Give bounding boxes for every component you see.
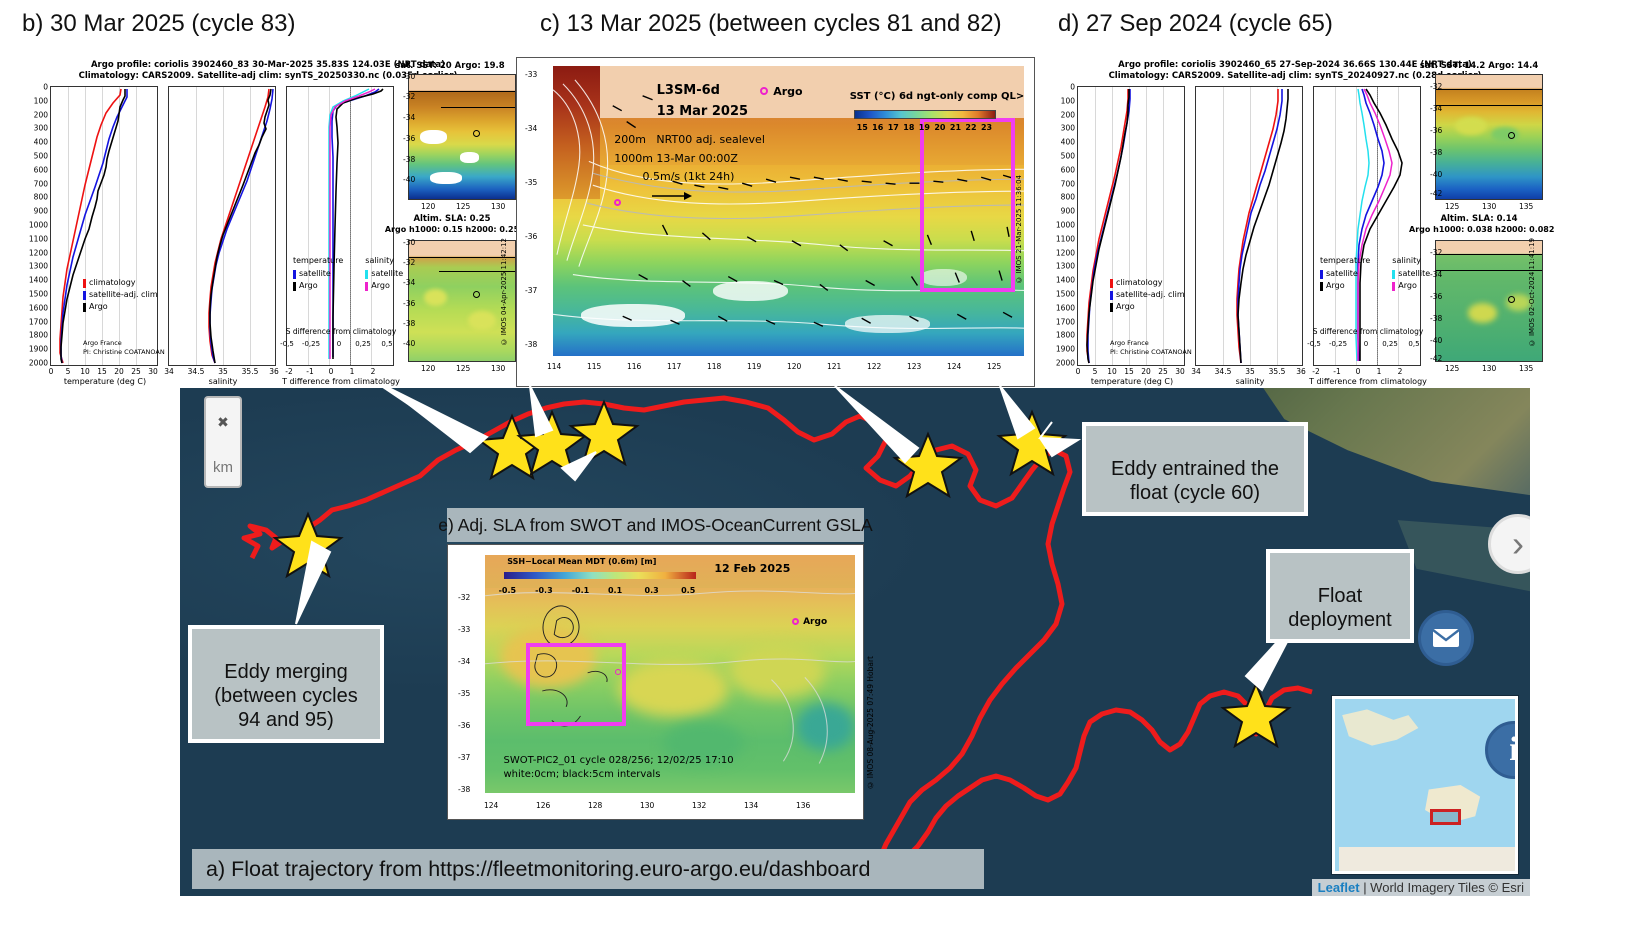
- panel-e-footer-line1: SWOT-PIC2_01 cycle 028/256; 12/02/25 17:…: [504, 755, 734, 766]
- scale-arrow-icon: [652, 191, 692, 201]
- panel-e-imos-credit: © IMOS 08-Aug-2025 07:49 Hobart: [866, 656, 875, 790]
- credit-line2: PI: Christine COATANOAN: [1110, 348, 1192, 357]
- star-marker: [275, 514, 341, 576]
- legend-temp-satellite: satellite: [1326, 268, 1358, 280]
- annotation-eddy-entrained: Eddy entrained the float (cycle 60): [1082, 422, 1308, 516]
- panel-c-note-line3: 0.5m/s (1kt 24h): [642, 170, 734, 183]
- legend-temp-satellite: satellite: [299, 268, 331, 280]
- panel-b-tdiff-title: T difference from climatology: [277, 377, 405, 386]
- series-satellite-adj: [1238, 89, 1282, 363]
- panel-c-figure: L3SM-6d 13 Mar 2025 Argo SST (°C) 6d ngt…: [516, 57, 1035, 387]
- legend-sal-satellite: satellite: [1398, 268, 1430, 280]
- close-icon[interactable]: ✖: [217, 414, 229, 431]
- panel-b-legend-profiles: climatology satellite-adj. clim Argo: [83, 277, 158, 313]
- panel-c-sst-colorbar: [854, 110, 995, 119]
- panel-d-legend-diff: temperature satellite Argo salinity sate…: [1320, 255, 1430, 292]
- legend-sal-argo: Argo: [1398, 280, 1417, 292]
- map-scale-label: km: [213, 459, 233, 476]
- legend-climatology: climatology: [1116, 277, 1163, 289]
- panel-c-product-label: L3SM-6d: [657, 83, 720, 98]
- argo-position-marker: [615, 669, 621, 675]
- panel-d-temp-axis-title: temperature (deg C): [1070, 377, 1194, 386]
- panel-d-sla-title2: Argo h1000: 0.038 h2000: 0.082: [1409, 225, 1549, 234]
- panel-b-temperature-profile: 0 100200 300400 500600 700800 9001000 11…: [50, 86, 158, 366]
- legend-satellite-adj: satellite-adj. clim: [1116, 289, 1185, 301]
- series-argo: [210, 89, 271, 363]
- panel-e-inset: e) Adj. SLA from SWOT and IMOS-OceanCurr…: [447, 508, 864, 820]
- panel-b-credit: Argo France PI: Christine COATANOAN: [83, 339, 165, 357]
- panel-d-sst-title: sat. SST: 14.2 Argo: 14.4: [1417, 61, 1541, 71]
- panel-b-sla-title2: Argo h1000: 0.15 h2000: 0.25: [384, 225, 520, 234]
- panel-a-caption: a) Float trajectory from https://fleetmo…: [192, 849, 984, 889]
- legend-temp-header: temperature: [1320, 255, 1370, 267]
- panel-b-legend-diff: temperature satellite Argo salinity sate…: [293, 255, 403, 292]
- annotation-text: Float deployment: [1288, 585, 1391, 631]
- panel-b-temp-axis-title: temperature (deg C): [43, 377, 167, 386]
- panel-b-salinity-profile: 3434.5 3535.5 36 salinity: [168, 86, 276, 366]
- star-marker: [999, 412, 1065, 474]
- star-marker: [1223, 684, 1289, 746]
- star-marker: [895, 434, 961, 496]
- legend-sal-satellite: satellite: [371, 268, 403, 280]
- series-temp-satellite: [1358, 89, 1384, 361]
- legend-sal-header: salinity: [365, 255, 394, 267]
- panel-e-sla-map: SSH−Local Mean MDT (0.6m) [m] -0.5-0.3 -…: [485, 555, 855, 793]
- series-satellite-adj: [210, 89, 273, 363]
- annotation-text: Eddy entrained the float (cycle 60): [1111, 458, 1279, 504]
- panel-c-sst-legend-title: SST (°C) 6d ngt-only comp QL>=3: [850, 91, 1024, 102]
- credit-line1: Argo France: [83, 339, 165, 348]
- argo-marker-icon: [792, 618, 799, 625]
- legend-argo: Argo: [1116, 301, 1135, 313]
- panel-c-argo-legend: Argo: [773, 85, 802, 98]
- map-attribution: Leaflet | World Imagery Tiles © Esri: [1312, 879, 1530, 896]
- panel-c-sst-map: L3SM-6d 13 Mar 2025 Argo SST (°C) 6d ngt…: [553, 66, 1024, 356]
- panel-c-note-line2: 1000m 13-Mar 00:00Z: [614, 152, 738, 165]
- panel-d-temperature-profile: 0 100200 300400 500600 700800 9001000 11…: [1077, 86, 1185, 366]
- series-climatology: [209, 89, 269, 363]
- credit-line2: PI: Christine COATANOAN: [83, 348, 165, 357]
- legend-argo: Argo: [89, 301, 108, 313]
- panel-d-tdiff-title: T difference from climatology: [1304, 377, 1432, 386]
- map-scale-control[interactable]: ✖ km: [204, 396, 242, 488]
- attribution-text: | World Imagery Tiles © Esri: [1363, 880, 1524, 895]
- argo-position-marker: [473, 291, 480, 298]
- panel-b-figure: Argo profile: coriolis 3902460_83 30-Mar…: [18, 56, 518, 388]
- panel-e-colorbar-title: SSH−Local Mean MDT (0.6m) [m]: [507, 557, 656, 566]
- panel-b-imos-credit: © IMOS 04-Apr-2025 11:42:12: [500, 238, 508, 345]
- panel-b-sst-map: [408, 74, 516, 200]
- annotation-eddy-merging: Eddy merging (between cycles 94 and 95): [188, 625, 384, 743]
- panel-c-date-label: 13 Mar 2025: [657, 104, 748, 119]
- series-argo: [61, 89, 125, 363]
- legend-temp-argo: Argo: [299, 280, 318, 292]
- series-argo: [1087, 89, 1129, 363]
- panel-b-title: b) 30 Mar 2025 (cycle 83): [22, 10, 295, 38]
- panel-d-credit: Argo France PI: Christine COATANOAN: [1110, 339, 1192, 357]
- info-icon[interactable]: i: [1509, 731, 1518, 769]
- legend-sal-argo: Argo: [371, 280, 390, 292]
- panel-d-figure: Argo profile: coriolis 3902460_65 27-Sep…: [1045, 56, 1545, 388]
- panel-c-region-of-interest: [920, 118, 1014, 292]
- panel-d-sst-map: [1435, 74, 1543, 200]
- series-temp-argo: [333, 89, 383, 359]
- panel-d-difference-profile: temperature satellite Argo salinity sate…: [1313, 86, 1421, 366]
- annotation-float-deployment: Float deployment: [1266, 549, 1414, 643]
- legend-climatology: climatology: [89, 277, 136, 289]
- legend-satellite-adj: satellite-adj. clim: [89, 289, 158, 301]
- contact-mail-button[interactable]: [1418, 610, 1474, 666]
- mail-icon[interactable]: [1432, 628, 1460, 648]
- panel-d-legend-profiles: climatology satellite-adj. clim Argo: [1110, 277, 1185, 313]
- panel-e-footer-line2: white:0cm; black:5cm intervals: [504, 769, 661, 780]
- series-satellite-adj: [61, 89, 127, 363]
- panel-b-sst-title: sat. SST: 20 Argo: 19.8: [390, 61, 510, 71]
- argo-position-marker: [473, 130, 480, 137]
- panel-d-salinity-profile: 3434.5 3535.5 36 salinity: [1195, 86, 1303, 366]
- panel-c-title: c) 13 Mar 2025 (between cycles 81 and 82…: [540, 10, 1002, 38]
- panel-b-sdiff-title: S difference from climatology: [283, 327, 399, 336]
- panel-e-argo-legend: Argo: [803, 617, 827, 627]
- locator-extent-box: [1430, 809, 1461, 824]
- star-marker: [571, 402, 637, 464]
- panel-b-sla-title1: Altim. SLA: 0.25: [390, 214, 514, 224]
- argo-marker-icon: [760, 87, 768, 95]
- annotation-text: Eddy merging (between cycles 94 and 95): [214, 661, 357, 731]
- series-climatology: [1237, 89, 1278, 363]
- panel-d-sdiff-title: S difference from climatology: [1310, 327, 1426, 336]
- map-locator-inset[interactable]: i: [1332, 696, 1518, 874]
- series-climatology: [1087, 89, 1128, 363]
- legend-temp-header: temperature: [293, 255, 343, 267]
- panel-d-sla-title1: Altim. SLA: 0.14: [1417, 214, 1541, 224]
- credit-line1: Argo France: [1110, 339, 1192, 348]
- panel-d-sla-map: [1435, 240, 1543, 362]
- panel-d-imos-credit: © IMOS 02-Oct-2024 11:41:19: [1528, 238, 1536, 346]
- legend-sal-header: salinity: [1392, 255, 1421, 267]
- panel-e-colorbar: [504, 572, 696, 579]
- panel-c-imos-credit: © IMOS 21-Mar-2025 11:36:04: [1015, 175, 1023, 284]
- panel-d-sal-axis-title: salinity: [1188, 377, 1312, 386]
- panel-b-sal-axis-title: salinity: [161, 377, 285, 386]
- panel-d-title: d) 27 Sep 2024 (cycle 65): [1058, 10, 1333, 38]
- attribution-leaflet-link[interactable]: Leaflet: [1318, 880, 1360, 895]
- panel-e-caption: e) Adj. SLA from SWOT and IMOS-OceanCurr…: [447, 508, 864, 542]
- panel-c-note-line1: 200m NRT00 adj. sealevel: [614, 133, 765, 146]
- legend-temp-argo: Argo: [1326, 280, 1345, 292]
- panel-e-region-of-interest: [526, 643, 626, 726]
- panel-b-difference-profile: temperature satellite Argo salinity sate…: [286, 86, 394, 366]
- series-temp-satellite: [332, 89, 379, 357]
- panel-e-date: 12 Feb 2025: [714, 562, 790, 575]
